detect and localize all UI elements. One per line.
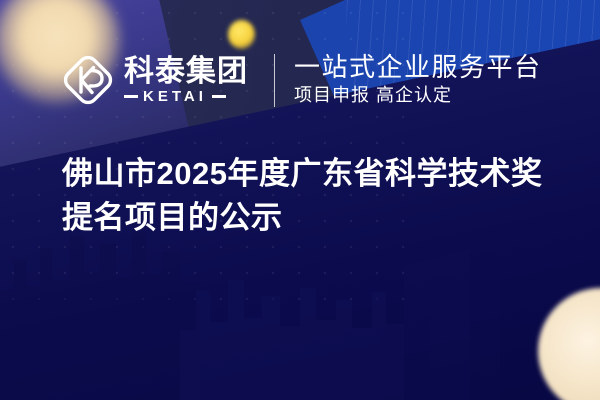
tagline-sub: 项目申报 高企认定	[294, 85, 542, 107]
announcement-banner: 科泰集团 KETAI 一站式企业服务平台 项目申报 高企认定 佛山市2025年度…	[0, 0, 600, 400]
dash-left-icon	[124, 95, 138, 98]
page-title-line-1: 佛山市2025年度广东省科学技术奖	[62, 152, 572, 196]
brand-name-en: KETAI	[143, 89, 207, 104]
kp-diamond-monogram-icon	[58, 50, 118, 110]
dash-right-icon	[212, 95, 226, 98]
banner-header: 科泰集团 KETAI 一站式企业服务平台 项目申报 高企认定	[58, 45, 542, 115]
brand-logo[interactable]: 科泰集团 KETAI	[58, 50, 248, 110]
tagline-main: 一站式企业服务平台	[294, 53, 542, 82]
page-title-line-2: 提名项目的公示	[62, 196, 572, 240]
brand-name-cn: 科泰集团	[124, 56, 248, 88]
brand-wordmark: 科泰集团 KETAI	[124, 56, 248, 105]
vertical-divider-icon	[274, 54, 275, 107]
tagline-block: 一站式企业服务平台 项目申报 高企认定	[294, 53, 542, 107]
brand-name-en-row: KETAI	[124, 89, 248, 104]
page-title: 佛山市2025年度广东省科学技术奖 提名项目的公示	[62, 152, 572, 240]
